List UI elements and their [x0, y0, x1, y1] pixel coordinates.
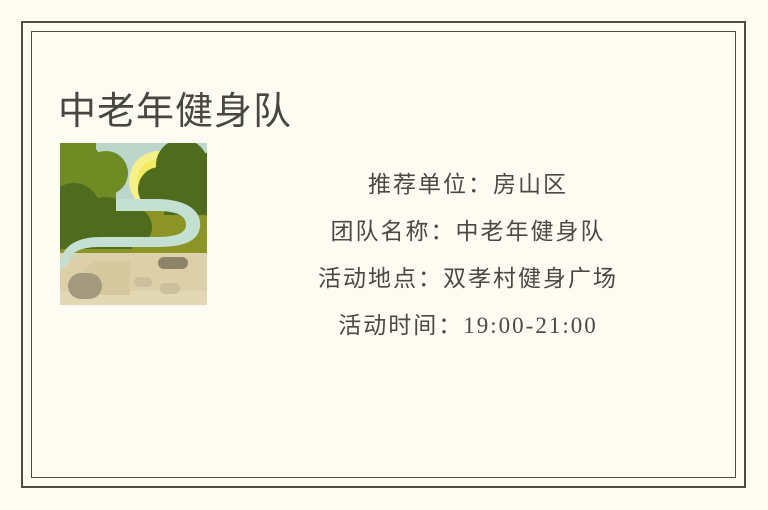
article-card: 中老年健身队	[0, 0, 768, 510]
page-title: 中老年健身队	[58, 87, 292, 137]
content-row: 推荐单位：房山区 团队名称：中老年健身队 活动地点：双孝村健身广场 活动时间：1…	[58, 143, 708, 358]
landscape-illustration-svg	[60, 143, 207, 305]
info-line-team-name: 团队名称：中老年健身队	[228, 208, 708, 255]
info-line-location: 活动地点：双孝村健身广场	[228, 255, 708, 302]
rock-large-shape	[68, 273, 102, 299]
info-line-recommender: 推荐单位：房山区	[228, 161, 708, 208]
info-block: 推荐单位：房山区 团队名称：中老年健身队 活动地点：双孝村健身广场 活动时间：1…	[228, 161, 708, 349]
info-line-time: 活动时间：19:00-21:00	[228, 302, 708, 349]
rock-small-two-shape	[160, 283, 180, 294]
rock-dark-shape	[158, 257, 188, 269]
bush-left-second-shape	[84, 151, 128, 195]
river-top-shape	[116, 199, 160, 211]
rock-small-one-shape	[134, 277, 152, 287]
landscape-thumbnail-image	[60, 143, 207, 305]
